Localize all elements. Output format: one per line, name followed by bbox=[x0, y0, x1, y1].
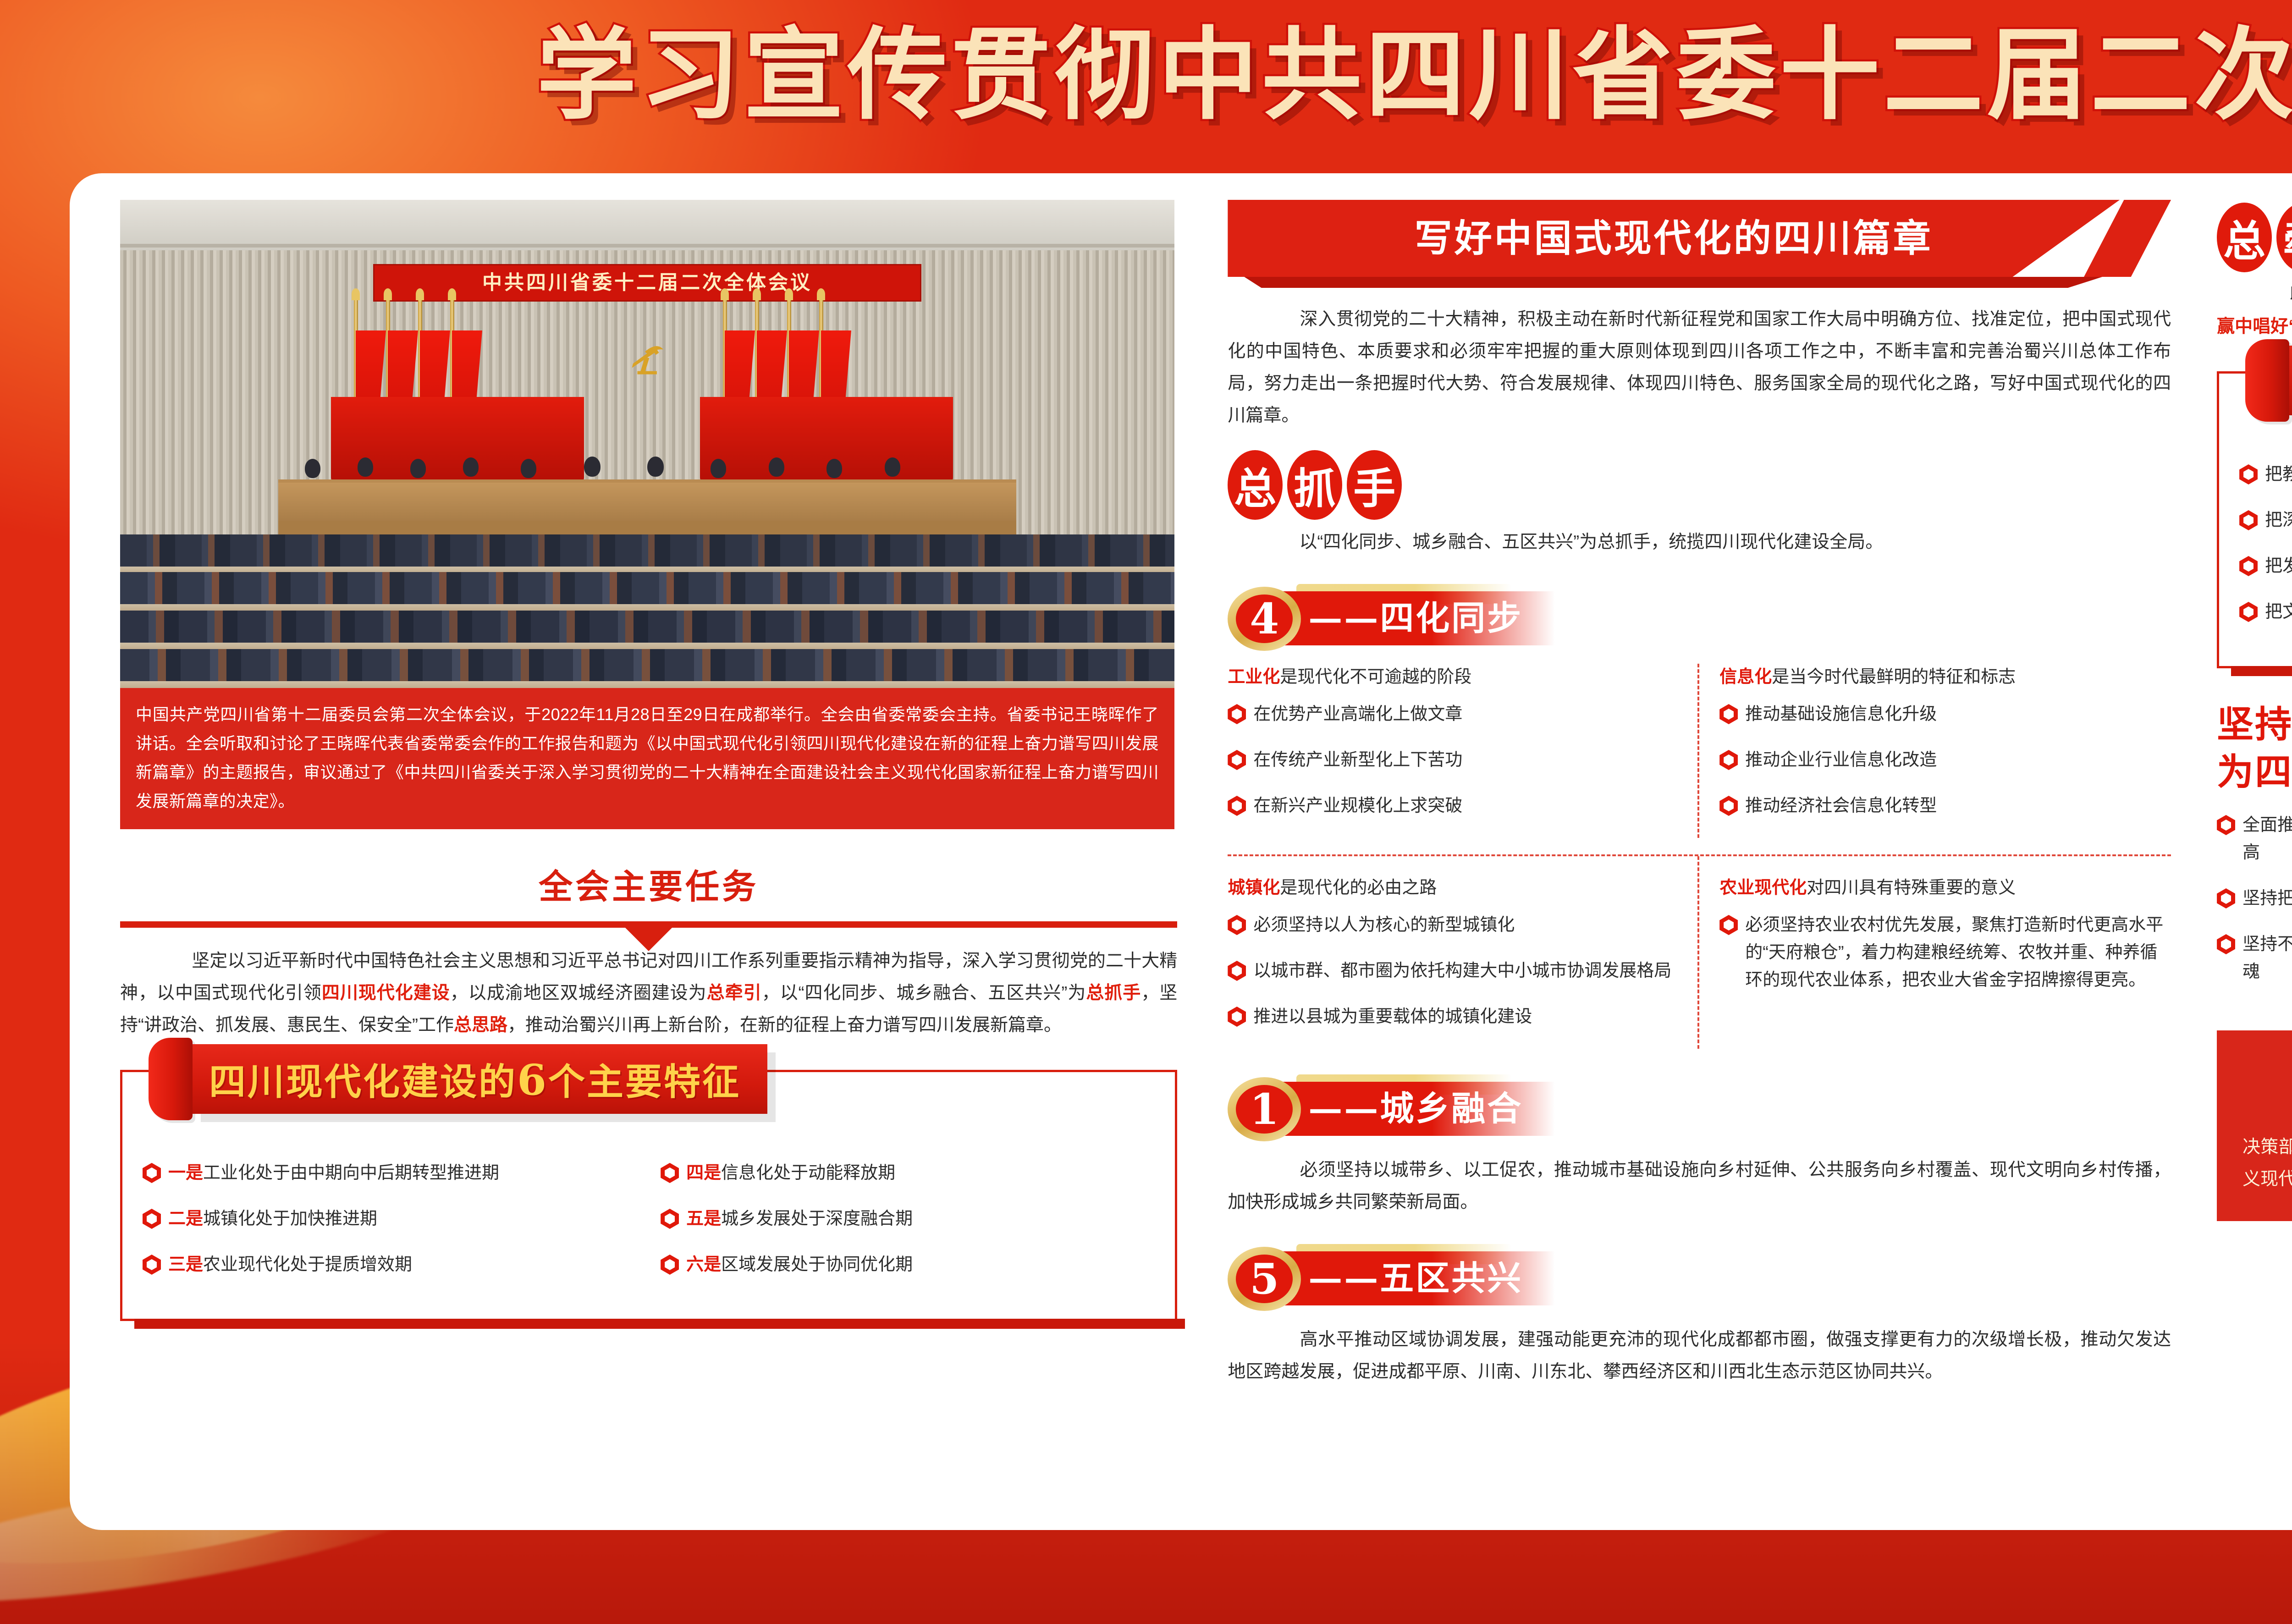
highlight-text: 总牵引 bbox=[707, 983, 762, 1003]
hexagon-bullet-icon bbox=[1228, 915, 1246, 935]
call-box-text: 全省上下要更加紧密地团结在以习近平同志为核心的党中央周围，全面贯彻落实党的二十大… bbox=[2242, 1099, 2292, 1195]
lead-bold-0: 工业化 bbox=[1228, 667, 1280, 687]
list-item: 一是工业化处于由中期向中后期转型推进期 bbox=[143, 1159, 637, 1187]
list-item-text: 五是城乡发展处于深度融合期 bbox=[686, 1205, 913, 1233]
hexagon-bullet-icon bbox=[2217, 934, 2235, 954]
plain-text: ，推动治蜀兴川再上新台阶，在新的征程上奋力谱写四川发展新篇章。 bbox=[507, 1015, 1062, 1035]
list-item-text: 必须坚持农业农村优先发展，聚焦打造新时代更高水平的“天府粮仓”，着力构建粮经统筹… bbox=[1745, 911, 2171, 994]
list-item-text: 必须坚持以人为核心的新型城镇化 bbox=[1253, 911, 1515, 939]
hexagon-bullet-icon bbox=[1228, 961, 1246, 981]
scroll-curl-icon-2 bbox=[2245, 339, 2289, 422]
heading-chengxiang: 1 ——城乡融合 bbox=[1228, 1074, 2171, 1143]
list-item-text: 把教育科技人才作为战略先导 bbox=[2265, 461, 2292, 488]
hexagon-bullet-icon bbox=[661, 1255, 679, 1275]
list-item: 把教育科技人才作为战略先导 bbox=[2239, 461, 2292, 488]
chengxiang-paragraph: 必须坚持以城带乡、以工促农，推动城市基础设施向乡村延伸、公共服务向乡村覆盖、现代… bbox=[1228, 1154, 2171, 1218]
hexagon-bullet-icon bbox=[661, 1209, 679, 1229]
plain-text: ，以成渝地区双城经济圈建设为 bbox=[450, 983, 707, 1003]
lead-bold-1: 信息化 bbox=[1719, 667, 1772, 687]
photo-banner-text: 中共四川省委十二届二次全体会议 bbox=[375, 265, 920, 300]
photo-ceiling-line bbox=[120, 244, 1174, 248]
highlight-text: 总抓手 bbox=[1086, 983, 1141, 1003]
features-title-number: 6 bbox=[517, 1055, 548, 1105]
badge-number-sihua: 4 bbox=[1236, 595, 1293, 643]
seal-char: 牵 bbox=[2276, 203, 2292, 272]
list-item-number: 二是 bbox=[168, 1209, 203, 1228]
features-title-suffix: 个主要特征 bbox=[548, 1060, 741, 1103]
hexagon-bullet-icon bbox=[2239, 602, 2258, 622]
list-item-text: 推动经济社会信息化转型 bbox=[1745, 792, 1937, 820]
hexagon-bullet-icon bbox=[2239, 464, 2258, 484]
middle-intro-paragraph: 深入贯彻党的二十大精神，积极主动在新时代新征程党和国家工作大局中明确方位、找准定… bbox=[1228, 303, 2171, 432]
zhuashou-paragraph: 以“四化同步、城乡融合、五区共兴”为总抓手，统揽四川现代化建设全局。 bbox=[1228, 526, 2171, 558]
list-item: 把文化自信自强作为持久精神力量 bbox=[2239, 598, 2292, 626]
list-item-text: 推进以县城为重要载体的城镇化建设 bbox=[1253, 1003, 1532, 1030]
list-item-number: 三是 bbox=[168, 1255, 203, 1274]
list-item: 四是信息化处于动能释放期 bbox=[661, 1159, 1155, 1187]
middle-banner-heading-text: 写好中国式现代化的四川篇章 bbox=[1228, 200, 2120, 277]
tasks-left-list: 把教育科技人才作为战略先导把深化改革扩大开放作为根本动力把发展全过程人民民主作为… bbox=[2239, 461, 2292, 644]
hexagon-bullet-icon bbox=[2239, 510, 2258, 530]
heading-wuqu-text: ——五区共兴 bbox=[1308, 1251, 1523, 1305]
list-item-text: 在新兴产业规模化上求突破 bbox=[1253, 792, 1462, 820]
lead-bold-2: 城镇化 bbox=[1228, 878, 1280, 897]
lead-rest-1: 是当今时代最鲜明的特征和标志 bbox=[1772, 667, 2016, 687]
features-title-prefix: 四川现代化建设的 bbox=[209, 1060, 517, 1103]
list-item: 坚持把党的政治建设摆在首位 bbox=[2217, 885, 2292, 912]
sihua-cell-urbanization: 城镇化是现代化的必由之路 必须坚持以人为核心的新型城镇化以城市群、都市圈为依托构… bbox=[1228, 856, 1699, 1049]
hexagon-bullet-icon bbox=[143, 1163, 161, 1183]
sihua-cell-agriculture: 农业现代化对四川具有特殊重要的意义 必须坚持农业农村优先发展，聚焦打造新时代更高… bbox=[1699, 856, 2171, 1049]
list-item-text: 一是工业化处于由中期向中后期转型推进期 bbox=[168, 1159, 499, 1187]
list-item: 必须坚持以人为核心的新型城镇化 bbox=[1228, 911, 1677, 939]
hexagon-bullet-icon bbox=[2217, 815, 2235, 835]
features-left-list: 一是工业化处于由中期向中后期转型推进期二是城镇化处于加快推进期三是农业现代化处于… bbox=[143, 1159, 637, 1297]
list-item-text: 在传统产业新型化上下苦功 bbox=[1253, 746, 1462, 774]
list-item: 六是区域发展处于协同优化期 bbox=[661, 1251, 1155, 1278]
highlight-text: 总思路 bbox=[454, 1015, 507, 1035]
features-box: 四川现代化建设的6个主要特征 一是工业化处于由中期向中后期转型推进期二是城镇化处… bbox=[120, 1070, 1177, 1321]
hexagon-bullet-icon bbox=[1719, 915, 1738, 935]
sihua-cell-information: 信息化是当今时代最鲜明的特征和标志 推动基础设施信息化升级推动企业行业信息化改造… bbox=[1699, 664, 2171, 838]
scroll-curl-icon bbox=[149, 1038, 193, 1120]
heading-sihua-text: ——四化同步 bbox=[1308, 591, 1523, 645]
heading-wuqu: 5 ——五区共兴 bbox=[1228, 1244, 2171, 1313]
column-left: 中共四川省委十二届二次全体会议 bbox=[88, 195, 1209, 1516]
hexagon-bullet-icon bbox=[1228, 796, 1246, 816]
tasks-box-header: 四川现代化建设的7项重点任务 bbox=[2245, 339, 2292, 422]
seal-char: 手 bbox=[1347, 450, 1402, 520]
list-item-text: 坚持不懈用习近平新时代中国特色社会主义思想凝心铸魂 bbox=[2242, 930, 2292, 985]
hexagon-bullet-icon bbox=[1228, 750, 1246, 770]
heading-sihua: 4 ——四化同步 bbox=[1228, 584, 2171, 653]
qianyin-paragraph: 以成渝地区双城经济圈建设作为四川现代化建设的总牵引，加强与重庆方面全方位协作，在… bbox=[2217, 279, 2292, 343]
party-leadership-heading: 坚持和加强党的全面领导 为四川现代化建设提供坚强保证 bbox=[2217, 700, 2292, 796]
hexagon-bullet-icon bbox=[1228, 1007, 1246, 1027]
list-item-text: 把深化改革扩大开放作为根本动力 bbox=[2265, 506, 2292, 534]
list-item-text: 推动基础设施信息化升级 bbox=[1745, 700, 1937, 728]
poster-title: 学习宣传贯彻中共四川省委十二届二次全会精神 bbox=[537, 8, 2292, 141]
list-item-text: 二是城镇化处于加快推进期 bbox=[168, 1205, 377, 1233]
hexagon-bullet-icon bbox=[1719, 750, 1738, 770]
list-item: 在优势产业高端化上做文章 bbox=[1228, 700, 1677, 728]
list-item: 推动经济社会信息化转型 bbox=[1719, 792, 2171, 820]
sihua-quad-grid: 工业化是现代化不可逾越的阶段 在优势产业高端化上做文章在传统产业新型化上下苦功在… bbox=[1228, 664, 2171, 1049]
list-item: 推动企业行业信息化改造 bbox=[1719, 746, 2171, 774]
call-box: 全会号召 全省上下要更加紧密地团结在以习近平同志为核心的党中央周围，全面贯彻落实… bbox=[2217, 1030, 2292, 1221]
section-title-main-task: 全会主要任务 bbox=[120, 859, 1177, 908]
hexagon-bullet-icon bbox=[2217, 888, 2235, 908]
plain-text: 以成渝地区双城经济圈建设作为四川现代化建设的总牵引， bbox=[2253, 285, 2292, 304]
list-item: 推动基础设施信息化升级 bbox=[1719, 700, 2171, 728]
list-item-text: 在优势产业高端化上做文章 bbox=[1253, 700, 1462, 728]
plain-text: ，以“四化同步、城乡融合、五区共兴”为 bbox=[762, 983, 1086, 1003]
middle-banner-heading: 写好中国式现代化的四川篇章 bbox=[1228, 200, 2171, 292]
photo-caption: 中国共产党四川省第十二届委员会第二次全体会议，于2022年11月28日至29日在… bbox=[120, 688, 1174, 829]
hexagon-bullet-icon bbox=[1719, 704, 1738, 724]
party-heading-line1: 坚持和加强党的全面领导 bbox=[2217, 700, 2292, 748]
list-item: 把深化改革扩大开放作为根本动力 bbox=[2239, 506, 2292, 534]
photo-ceiling bbox=[120, 200, 1174, 250]
hexagon-bullet-icon bbox=[1228, 704, 1246, 724]
hexagon-bullet-icon bbox=[143, 1255, 161, 1275]
list-item: 三是农业现代化处于提质增效期 bbox=[143, 1251, 637, 1278]
sihua-items-2: 必须坚持以人为核心的新型城镇化以城市群、都市圈为依托构建大中小城市协调发展格局推… bbox=[1228, 911, 1677, 1030]
heading-chengxiang-text: ——城乡融合 bbox=[1308, 1082, 1523, 1136]
party-emblem-icon bbox=[621, 333, 675, 388]
list-item: 五是城乡发展处于深度融合期 bbox=[661, 1205, 1155, 1233]
list-item-text: 六是区域发展处于协同优化期 bbox=[686, 1251, 913, 1278]
list-item-text: 三是农业现代化处于提质增效期 bbox=[168, 1251, 412, 1278]
list-item: 把发展全过程人民民主作为重要保障 bbox=[2239, 552, 2292, 580]
list-item-text: 全面推进党的自我净化、自我完善、自我革新、自我提高 bbox=[2242, 811, 2292, 866]
list-item: 坚持不懈用习近平新时代中国特色社会主义思想凝心铸魂 bbox=[2217, 930, 2292, 985]
list-item: 在传统产业新型化上下苦功 bbox=[1228, 746, 1677, 774]
hexagon-bullet-icon bbox=[143, 1209, 161, 1229]
lead-rest-2: 是现代化的必由之路 bbox=[1280, 878, 1437, 897]
highlight-text: 四川现代化建设 bbox=[322, 983, 450, 1003]
list-item-text: 四是信息化处于动能释放期 bbox=[686, 1159, 895, 1187]
list-item: 全面推进党的自我净化、自我完善、自我革新、自我提高 bbox=[2217, 811, 2292, 866]
list-item-number: 一是 bbox=[168, 1163, 203, 1183]
seal-char: 抓 bbox=[1287, 450, 1342, 520]
sihua-items-3: 必须坚持农业农村优先发展，聚焦打造新时代更高水平的“天府粮仓”，着力构建粮经统筹… bbox=[1719, 911, 2171, 994]
hexagon-bullet-icon bbox=[2239, 556, 2258, 576]
wuqu-paragraph: 高水平推动区域协调发展，建强动能更充沛的现代化成都都市圈，做强支撑更有力的次级增… bbox=[1228, 1324, 2171, 1388]
list-item-text: 坚持把党的政治建设摆在首位 bbox=[2242, 885, 2292, 912]
hexagon-bullet-icon bbox=[1719, 796, 1738, 816]
meeting-photo: 中共四川省委十二届二次全体会议 bbox=[120, 200, 1174, 688]
badge-number-wuqu: 5 bbox=[1236, 1255, 1293, 1303]
poster-title-area: 学习宣传贯彻中共四川省委十二届二次全会精神 bbox=[0, 8, 2292, 146]
hexagon-bullet-icon bbox=[661, 1163, 679, 1183]
arrow-divider bbox=[120, 921, 1177, 942]
tasks-box: 四川现代化建设的7项重点任务 把教育科技人才作为战略先导把深化改革扩大开放作为根… bbox=[2217, 371, 2292, 668]
column-middle: 写好中国式现代化的四川篇章 深入贯彻党的二十大精神，积极主动在新时代新征程党和国… bbox=[1209, 195, 2189, 1516]
list-item: 以城市群、都市圈为依托构建大中小城市协调发展格局 bbox=[1228, 957, 1677, 985]
list-item-text: 推动企业行业信息化改造 bbox=[1745, 746, 1937, 774]
features-box-header: 四川现代化建设的6个主要特征 bbox=[149, 1038, 767, 1120]
list-item: 推进以县城为重要载体的城镇化建设 bbox=[1228, 1003, 1677, 1030]
party-left-list: 全面推进党的自我净化、自我完善、自我革新、自我提高坚持把党的政治建设摆在首位坚持… bbox=[2217, 811, 2292, 1004]
seal-char: 总 bbox=[1228, 450, 1283, 520]
features-right-list: 四是信息化处于动能释放期五是城乡发展处于深度融合期六是区域发展处于协同优化期 bbox=[661, 1159, 1155, 1297]
content-card: 中共四川省委十二届二次全体会议 bbox=[70, 173, 2292, 1530]
sihua-items-0: 在优势产业高端化上做文章在传统产业新型化上下苦功在新兴产业规模化上求突破 bbox=[1228, 700, 1677, 820]
list-item-number: 四是 bbox=[686, 1163, 721, 1183]
list-item-number: 五是 bbox=[686, 1209, 721, 1228]
lead-rest-3: 对四川具有特殊重要的意义 bbox=[1807, 878, 2016, 897]
party-items-grid: 全面推进党的自我净化、自我完善、自我革新、自我提高坚持把党的政治建设摆在首位坚持… bbox=[2217, 811, 2292, 1004]
list-item: 在新兴产业规模化上求突破 bbox=[1228, 792, 1677, 820]
list-item-number: 六是 bbox=[686, 1255, 721, 1274]
sihua-items-1: 推动基础设施信息化升级推动企业行业信息化改造推动经济社会信息化转型 bbox=[1719, 700, 2171, 820]
column-right: 总牵引 以成渝地区双城经济圈建设作为四川现代化建设的总牵引，加强与重庆方面全方位… bbox=[2189, 195, 2292, 1516]
seal-char: 总 bbox=[2217, 203, 2272, 272]
seal-zongqianyin: 总牵引 bbox=[2217, 203, 2292, 272]
list-item: 必须坚持农业农村优先发展，聚焦打造新时代更高水平的“天府粮仓”，着力构建粮经统筹… bbox=[1719, 911, 2171, 994]
list-item-text: 以城市群、都市圈为依托构建大中小城市协调发展格局 bbox=[1253, 957, 1671, 985]
list-item-text: 把文化自信自强作为持久精神力量 bbox=[2265, 598, 2292, 626]
list-item-text: 把发展全过程人民民主作为重要保障 bbox=[2265, 552, 2292, 580]
sihua-cell-industrial: 工业化是现代化不可逾越的阶段 在优势产业高端化上做文章在传统产业新型化上下苦功在… bbox=[1228, 664, 1699, 838]
poster-root: 学习宣传贯彻中共四川省委十二届二次全会精神 中共四川省委十二届二次全体会议 bbox=[0, 0, 2292, 1624]
lead-rest-0: 是现代化不可逾越的阶段 bbox=[1280, 667, 1471, 687]
main-task-paragraph: 坚定以习近平新时代中国特色社会主义思想和习近平总书记对四川工作系列重要指示精神为… bbox=[120, 945, 1177, 1041]
lead-bold-3: 农业现代化 bbox=[1719, 878, 1807, 897]
party-heading-line2: 为四川现代化建设提供坚强保证 bbox=[2217, 748, 2292, 796]
list-item: 二是城镇化处于加快推进期 bbox=[143, 1205, 637, 1233]
seal-zongzhuashou: 总抓手 bbox=[1228, 450, 2171, 520]
badge-number-chengxiang: 1 bbox=[1236, 1085, 1293, 1134]
